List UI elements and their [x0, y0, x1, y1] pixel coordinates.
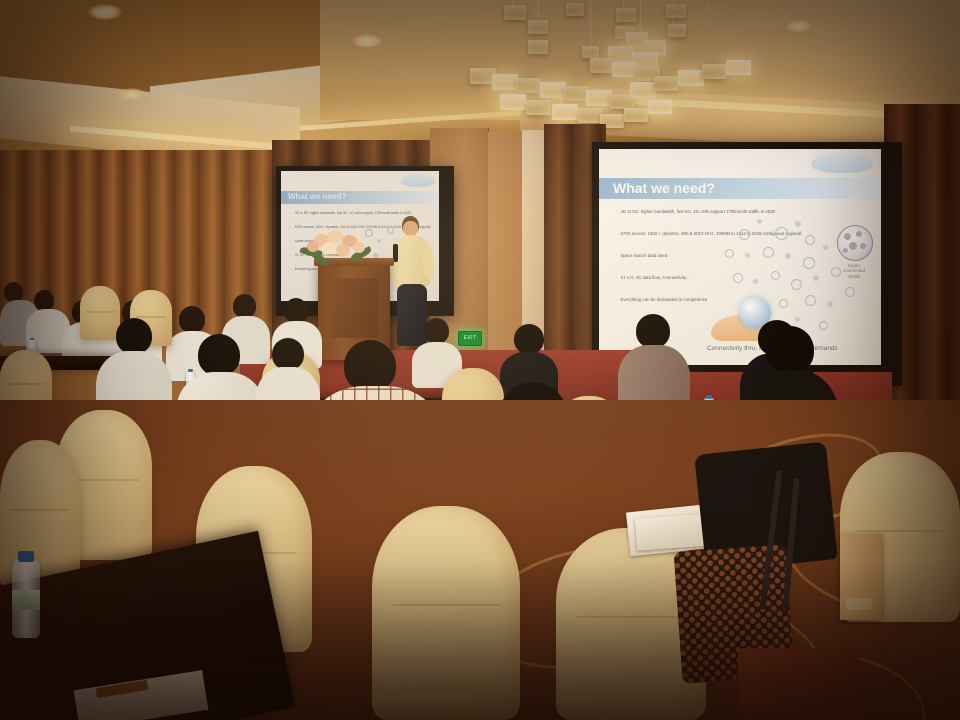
- downlight-icon: [88, 4, 122, 20]
- paper-bag-label: [846, 598, 872, 610]
- downlight-icon: [786, 20, 812, 32]
- bullet-dash: –: [290, 225, 292, 229]
- slide-bullet: X1 IoT, 4G data flow, Connectivity...: [620, 275, 689, 280]
- bullet-dash: –: [615, 209, 617, 214]
- slide-bullet: 4G to 5G: higher bandwidth, fast 5G, 4G …: [620, 209, 775, 214]
- downlight-icon: [352, 34, 382, 48]
- bullet-dash: –: [290, 253, 292, 257]
- conference-room-photo: EXIT What we need? – 4G to 5G: higher ba…: [0, 0, 960, 720]
- exit-sign-label: EXIT: [464, 336, 477, 341]
- flower-arrangement: [298, 228, 374, 266]
- slide-title-right: What we need?: [613, 180, 715, 196]
- bullet-dash: –: [290, 211, 292, 215]
- bullet-dash: –: [290, 267, 292, 271]
- bullet-dash: –: [290, 239, 292, 243]
- rolling-luggage: [738, 648, 860, 720]
- slide-cloud-right: [811, 153, 873, 173]
- water-bottle-foreground: [12, 560, 40, 638]
- chair-foreground: [372, 506, 520, 720]
- slide-cloud-left: [401, 174, 435, 187]
- bullet-dash: –: [615, 253, 617, 258]
- bullet-dash: –: [615, 297, 617, 302]
- slide-bullet: 5700 access: 1800 + dynamic, 900 & 2012 …: [620, 231, 801, 236]
- podium-front-panel: [330, 278, 378, 338]
- slide-title-left: What we need?: [288, 192, 346, 201]
- bullet-dash: –: [615, 275, 617, 280]
- slide-bullet: 4G to 5G: higher bandwidth, fast 5G, 4G …: [295, 211, 411, 215]
- hyper-connected-world-logo: Hyper Connected World: [837, 225, 871, 279]
- slide-bullet: Everything can be demanded in competence: [620, 297, 707, 302]
- logo-line: World: [837, 274, 871, 279]
- slide-bullet: Spare search data need: [620, 253, 667, 258]
- logo-circle-icon: [837, 225, 873, 261]
- presenter-face: [403, 221, 418, 236]
- downlight-icon: [118, 88, 146, 101]
- bullet-dash: –: [615, 231, 617, 236]
- chandelier: [440, 0, 770, 130]
